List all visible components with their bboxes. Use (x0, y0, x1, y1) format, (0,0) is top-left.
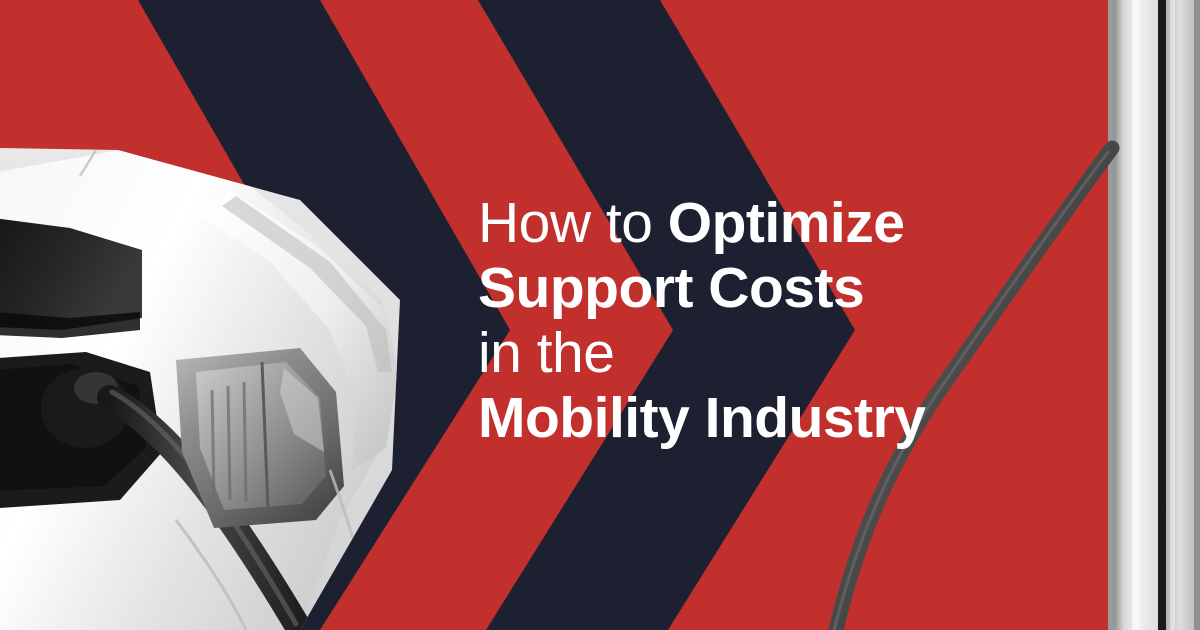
headline-line-2: Support Costs (478, 256, 1038, 321)
headline-line-1-light: How to (478, 191, 668, 255)
headline-line-4-bold: Mobility Industry (478, 386, 926, 450)
hero-banner: How to Optimize Support Costs in the Mob… (0, 0, 1200, 630)
headline-line-4: Mobility Industry (478, 386, 1038, 451)
headline-line-3-light: in the (478, 321, 614, 385)
headline-line-1: How to Optimize (478, 191, 1038, 256)
page-title: How to Optimize Support Costs in the Mob… (478, 191, 1038, 451)
headline-line-3: in the (478, 321, 1038, 386)
headline-line-2-bold: Support Costs (478, 256, 864, 320)
headline-line-1-bold: Optimize (668, 191, 905, 255)
